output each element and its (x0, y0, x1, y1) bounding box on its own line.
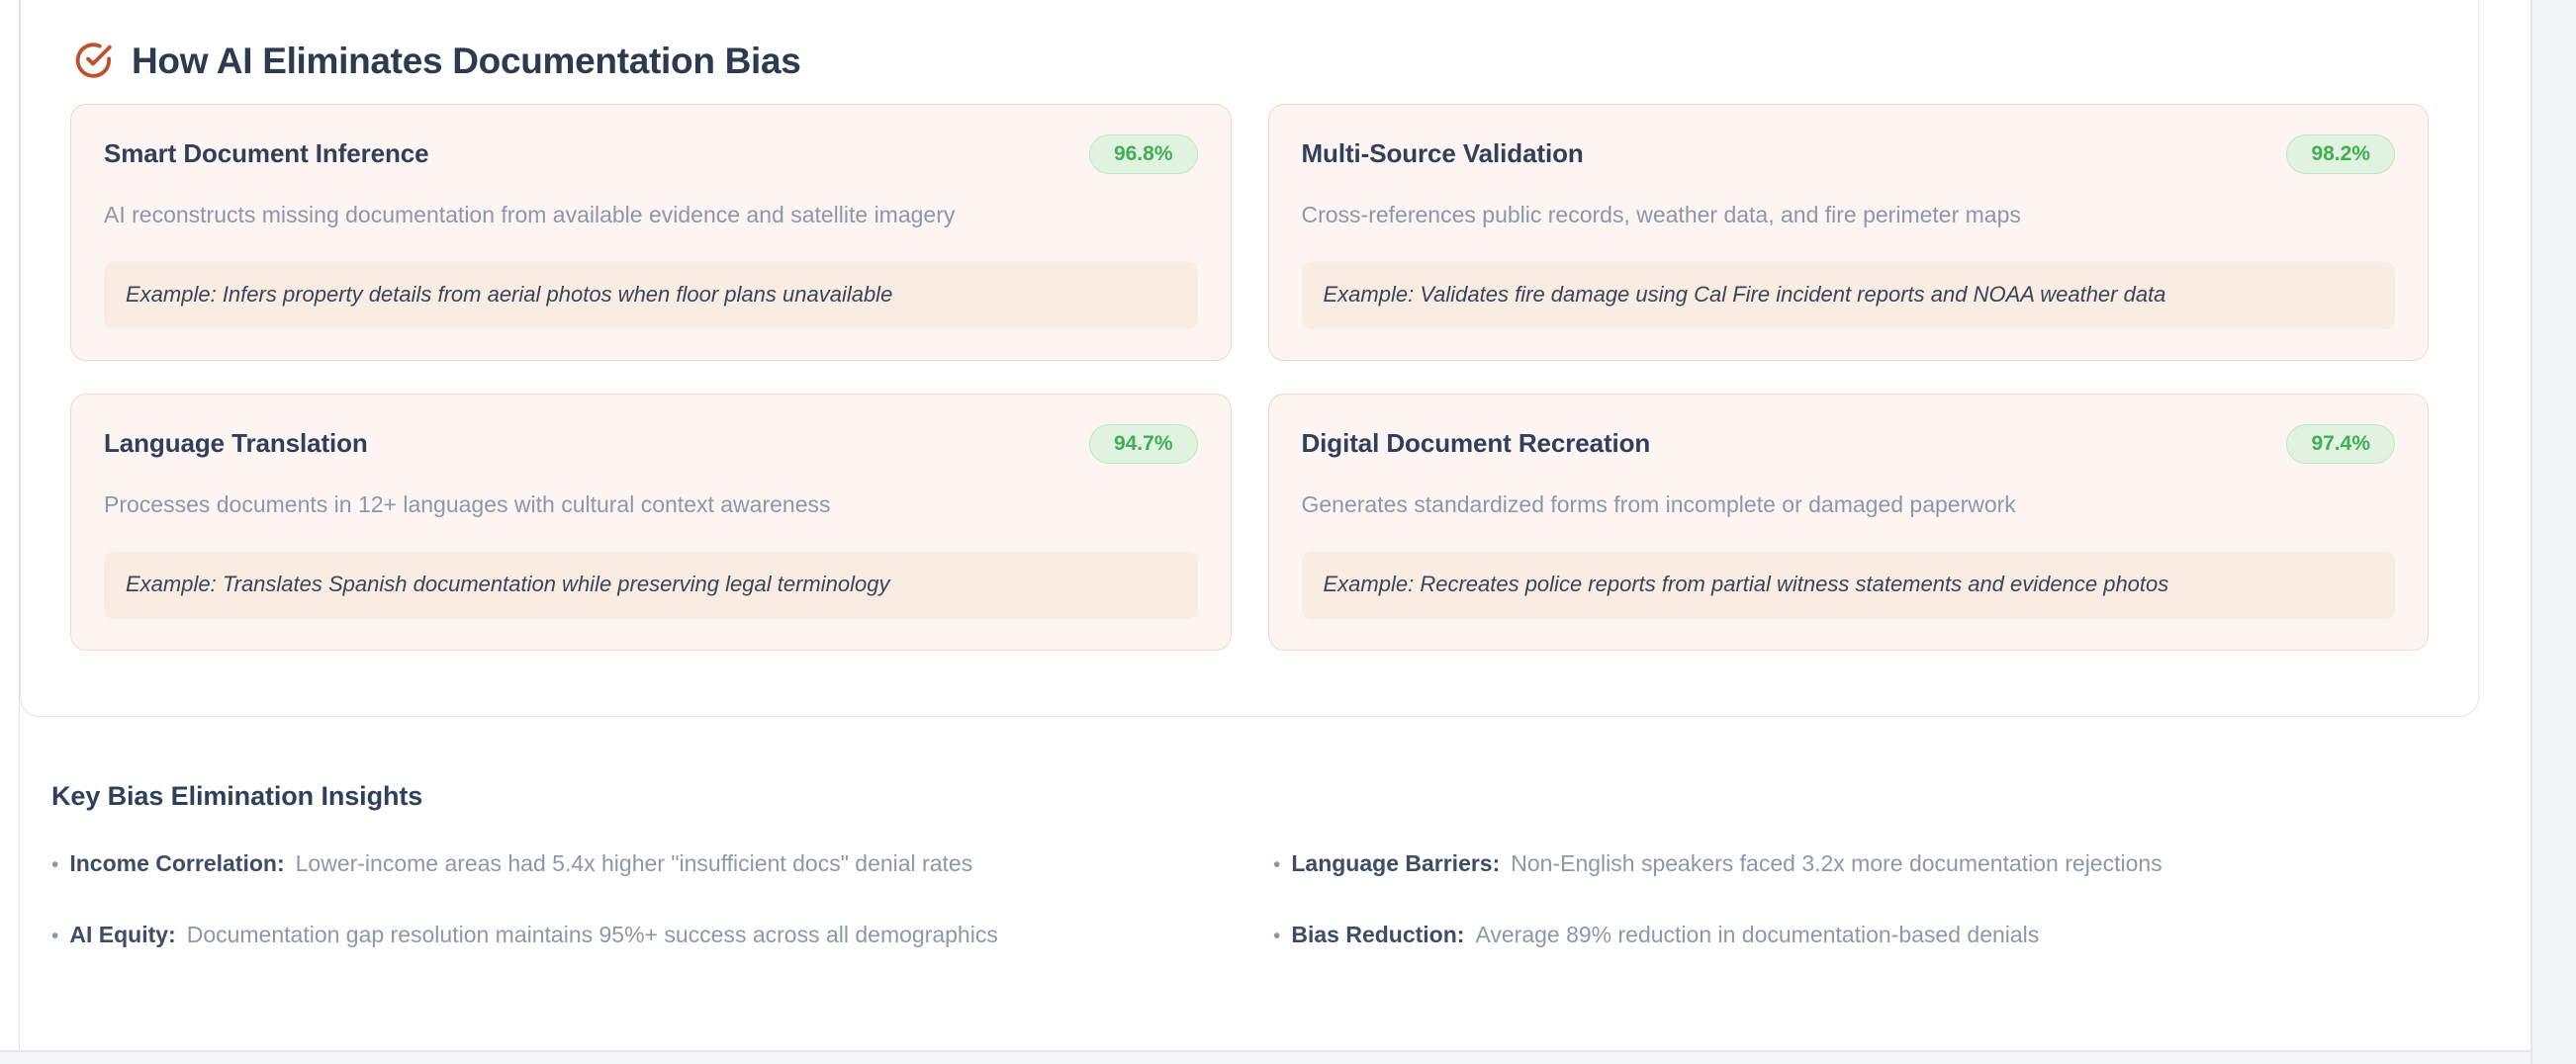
insight-text: Average 89% reduction in documentation-b… (1475, 921, 2039, 950)
check-circle-icon (72, 40, 114, 81)
feature-title: Digital Document Recreation (1302, 428, 1651, 459)
insight-label: Income Correlation: (69, 849, 284, 879)
feature-card-header: Digital Document Recreation 97.4% (1302, 424, 2396, 464)
feature-example-text: Example: Validates fire damage using Cal… (1324, 281, 2374, 310)
feature-description: Processes documents in 12+ languages wit… (104, 489, 1198, 520)
accuracy-badge: 94.7% (1089, 424, 1198, 464)
bullet-icon: • (51, 926, 58, 946)
feature-title: Language Translation (104, 428, 368, 459)
insight-item: • Language Barriers: Non-English speaker… (1273, 849, 2445, 879)
feature-card[interactable]: Language Translation 94.7% Processes doc… (70, 394, 1232, 651)
feature-card-grid: Smart Document Inference 96.8% AI recons… (70, 104, 2429, 651)
feature-example-box: Example: Validates fire damage using Cal… (1302, 262, 2396, 329)
accuracy-badge: 97.4% (2286, 424, 2395, 464)
feature-example-text: Example: Recreates police reports from p… (1324, 571, 2374, 599)
feature-example-box: Example: Translates Spanish documentatio… (104, 552, 1198, 619)
key-insights-section: Key Bias Elimination Insights • Income C… (51, 781, 2445, 950)
accuracy-badge: 98.2% (2286, 134, 2395, 174)
insight-item: • Bias Reduction: Average 89% reduction … (1273, 921, 2445, 950)
documentation-bias-panel: How AI Eliminates Documentation Bias Sma… (20, 0, 2479, 717)
insight-label: AI Equity: (69, 921, 175, 950)
page-title: How AI Eliminates Documentation Bias (132, 43, 801, 79)
insights-title: Key Bias Elimination Insights (51, 781, 2445, 812)
insight-text: Documentation gap resolution maintains 9… (187, 921, 998, 950)
page-scroll-gutter[interactable] (2530, 0, 2576, 1064)
feature-example-box: Example: Infers property details from ae… (104, 262, 1198, 329)
insight-label: Language Barriers: (1291, 849, 1500, 879)
accuracy-badge: 96.8% (1089, 134, 1198, 174)
feature-card[interactable]: Multi-Source Validation 98.2% Cross-refe… (1268, 104, 2430, 361)
feature-example-text: Example: Infers property details from ae… (126, 281, 1176, 310)
feature-description: Generates standardized forms from incomp… (1302, 489, 2396, 520)
feature-card[interactable]: Digital Document Recreation 97.4% Genera… (1268, 394, 2430, 651)
feature-description: Cross-references public records, weather… (1302, 200, 2396, 230)
insights-grid: • Income Correlation: Lower-income areas… (51, 849, 2445, 950)
feature-example-text: Example: Translates Spanish documentatio… (126, 571, 1176, 599)
bottom-strip (0, 1052, 2530, 1064)
bullet-icon: • (51, 854, 58, 875)
feature-card[interactable]: Smart Document Inference 96.8% AI recons… (70, 104, 1232, 361)
feature-title: Multi-Source Validation (1302, 138, 1584, 169)
insight-item: • AI Equity: Documentation gap resolutio… (51, 921, 1273, 950)
bullet-icon: • (1273, 926, 1280, 946)
bullet-icon: • (1273, 854, 1280, 875)
insight-label: Bias Reduction: (1291, 921, 1464, 950)
insight-text: Lower-income areas had 5.4x higher "insu… (296, 849, 973, 879)
content-column: How AI Eliminates Documentation Bias Sma… (0, 0, 2530, 1064)
insight-text: Non-English speakers faced 3.2x more doc… (1511, 849, 2162, 879)
feature-example-box: Example: Recreates police reports from p… (1302, 552, 2396, 619)
feature-card-header: Smart Document Inference 96.8% (104, 134, 1198, 174)
feature-card-header: Multi-Source Validation 98.2% (1302, 134, 2396, 174)
page-root: How AI Eliminates Documentation Bias Sma… (0, 0, 2576, 1064)
feature-card-header: Language Translation 94.7% (104, 424, 1198, 464)
feature-title: Smart Document Inference (104, 138, 428, 169)
panel-header: How AI Eliminates Documentation Bias (70, 0, 2429, 82)
insight-item: • Income Correlation: Lower-income areas… (51, 849, 1273, 879)
feature-description: AI reconstructs missing documentation fr… (104, 200, 1198, 230)
